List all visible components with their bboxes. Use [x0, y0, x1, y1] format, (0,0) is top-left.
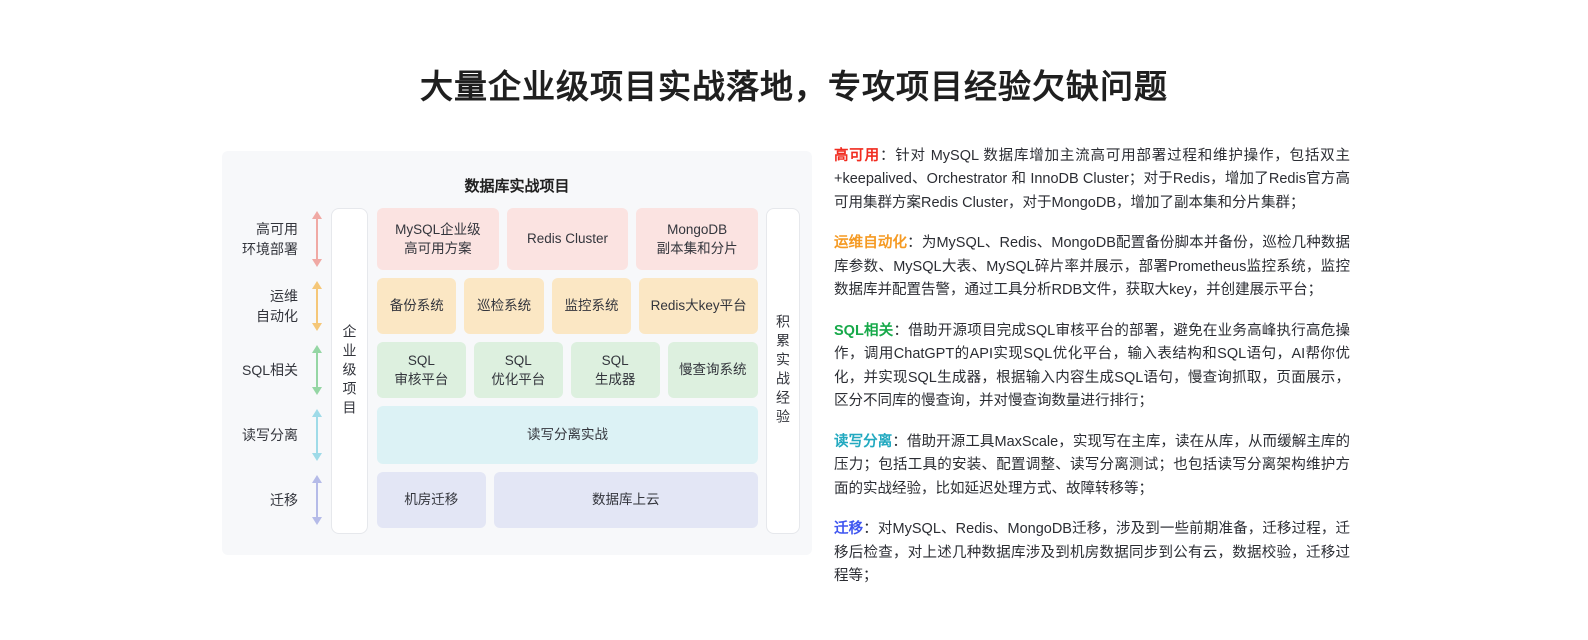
diagram-row: 备份系统巡检系统监控系统Redis大key平台 — [377, 278, 758, 334]
diagram-cell[interactable]: 慢查询系统 — [668, 342, 758, 398]
stage-arrow — [310, 208, 324, 270]
detail-tag: 高可用 — [834, 148, 880, 164]
stage-arrow — [310, 406, 324, 464]
detail-paragraph: 高可用：针对 MySQL 数据库增加主流高可用部署过程和维护操作，包括双主+ke… — [834, 145, 1350, 215]
stage-label: SQL相关 — [234, 342, 306, 398]
double-arrow-icon — [310, 345, 324, 395]
stage-arrow — [310, 342, 324, 398]
diagram-cell-label: 慢查询系统 — [679, 360, 747, 379]
stage-label: 迁移 — [234, 472, 306, 528]
diagram-cell[interactable]: 备份系统 — [377, 278, 456, 334]
diagram-cell[interactable]: MongoDB副本集和分片 — [636, 208, 758, 270]
diagram-cell-label: MySQL企业级高可用方案 — [395, 220, 481, 258]
double-arrow-icon — [310, 409, 324, 461]
diagram-row: SQL审核平台SQL优化平台SQL生成器慢查询系统 — [377, 342, 758, 398]
diagram-cell-label: 机房迁移 — [404, 490, 458, 509]
diagram-cell-label: SQL优化平台 — [491, 351, 545, 389]
diagram-card: 数据库实战项目 高可用环境部署运维自动化SQL相关读写分离迁移 企业级项目 My… — [222, 151, 812, 555]
accumulate-experience-pill-label: 积累实战经验 — [776, 314, 790, 428]
detail-separator: ： — [892, 434, 907, 450]
accumulate-experience-pill: 积累实战经验 — [766, 208, 800, 534]
detail-paragraph: 运维自动化：为MySQL、Redis、MongoDB配置备份脚本并备份，巡检几种… — [834, 232, 1350, 302]
diagram-cell-label: SQL审核平台 — [394, 351, 448, 389]
detail-paragraph: 迁移：对MySQL、Redis、MongoDB迁移，涉及到一些前期准备，迁移过程… — [834, 518, 1350, 588]
double-arrow-icon — [310, 475, 324, 525]
detail-tag: SQL相关 — [834, 323, 894, 339]
detail-separator: ： — [863, 521, 878, 537]
diagram-cell[interactable]: SQL优化平台 — [474, 342, 563, 398]
double-arrow-icon — [310, 211, 324, 267]
stage-label-column: 高可用环境部署运维自动化SQL相关读写分离迁移 — [234, 208, 306, 534]
stage-label: 运维自动化 — [234, 278, 306, 334]
page-root: 大量企业级项目实战落地，专攻项目经验欠缺问题 数据库实战项目 高可用环境部署运维… — [0, 0, 1588, 640]
diagram-cell-label: Redis大key平台 — [651, 296, 747, 315]
diagram-row: 机房迁移数据库上云 — [377, 472, 758, 528]
diagram-cell[interactable]: MySQL企业级高可用方案 — [377, 208, 499, 270]
stage-label-text: SQL相关 — [242, 360, 298, 380]
stage-arrow — [310, 278, 324, 334]
diagram-cell-label: 数据库上云 — [592, 490, 660, 509]
enterprise-project-pill-label: 企业级项目 — [343, 324, 357, 419]
detail-separator: ： — [880, 148, 895, 164]
stage-label-text: 读写分离 — [242, 425, 298, 445]
stage-label-text: 运维自动化 — [256, 286, 298, 327]
diagram-cell[interactable]: Redis Cluster — [507, 208, 629, 270]
diagram-cell[interactable]: 数据库上云 — [494, 472, 758, 528]
diagram-cell[interactable]: 巡检系统 — [464, 278, 543, 334]
diagram-grid: 高可用环境部署运维自动化SQL相关读写分离迁移 企业级项目 MySQL企业级高可… — [234, 208, 800, 534]
stage-label: 读写分离 — [234, 406, 306, 464]
detail-tag: 运维自动化 — [834, 235, 907, 251]
diagram-cell-label: 读写分离实战 — [527, 425, 608, 444]
detail-tag: 迁移 — [834, 521, 863, 537]
detail-paragraph: SQL相关：借助开源项目完成SQL审核平台的部署，避免在业务高峰执行高危操作，调… — [834, 320, 1350, 414]
enterprise-project-pill: 企业级项目 — [331, 208, 368, 534]
diagram-cell-label: 备份系统 — [390, 296, 444, 315]
stage-arrow — [310, 472, 324, 528]
detail-separator: ： — [907, 235, 922, 251]
diagram-row: 读写分离实战 — [377, 406, 758, 464]
diagram-title: 数据库实战项目 — [222, 175, 812, 196]
stage-arrow-column — [306, 208, 328, 534]
stage-label-text: 高可用环境部署 — [242, 219, 298, 260]
detail-body: 对MySQL、Redis、MongoDB迁移，涉及到一些前期准备，迁移过程，迁移… — [834, 521, 1350, 584]
detail-paragraph: 读写分离：借助开源工具MaxScale，实现写在主库，读在从库，从而缓解主库的压… — [834, 431, 1350, 501]
diagram-cell[interactable]: SQL生成器 — [571, 342, 660, 398]
detail-tag: 读写分离 — [834, 434, 892, 450]
diagram-cell[interactable]: SQL审核平台 — [377, 342, 466, 398]
double-arrow-icon — [310, 281, 324, 331]
stage-label: 高可用环境部署 — [234, 208, 306, 270]
diagram-cell[interactable]: Redis大key平台 — [639, 278, 758, 334]
stage-label-text: 迁移 — [270, 490, 298, 510]
diagram-cell-label: Redis Cluster — [527, 229, 608, 248]
detail-body: 针对 MySQL 数据库增加主流高可用部署过程和维护操作，包括双主+keepal… — [834, 148, 1350, 211]
detail-separator: ： — [894, 323, 909, 339]
details-panel: 高可用：针对 MySQL 数据库增加主流高可用部署过程和维护操作，包括双主+ke… — [834, 145, 1350, 585]
diagram-rows: MySQL企业级高可用方案Redis ClusterMongoDB副本集和分片备… — [377, 208, 758, 534]
diagram-cell-label: 巡检系统 — [477, 296, 531, 315]
diagram-cell[interactable]: 机房迁移 — [377, 472, 486, 528]
diagram-cell[interactable]: 读写分离实战 — [377, 406, 758, 464]
diagram-cell-label: 监控系统 — [565, 296, 619, 315]
diagram-cell[interactable]: 监控系统 — [552, 278, 631, 334]
detail-body: 借助开源工具MaxScale，实现写在主库，读在从库，从而缓解主库的压力；包括工… — [834, 434, 1350, 497]
diagram-cell-label: SQL生成器 — [595, 351, 636, 389]
diagram-row: MySQL企业级高可用方案Redis ClusterMongoDB副本集和分片 — [377, 208, 758, 270]
page-title: 大量企业级项目实战落地，专攻项目经验欠缺问题 — [0, 60, 1588, 108]
detail-body: 借助开源项目完成SQL审核平台的部署，避免在业务高峰执行高危操作，调用ChatG… — [834, 323, 1350, 409]
diagram-cell-label: MongoDB副本集和分片 — [657, 220, 738, 258]
